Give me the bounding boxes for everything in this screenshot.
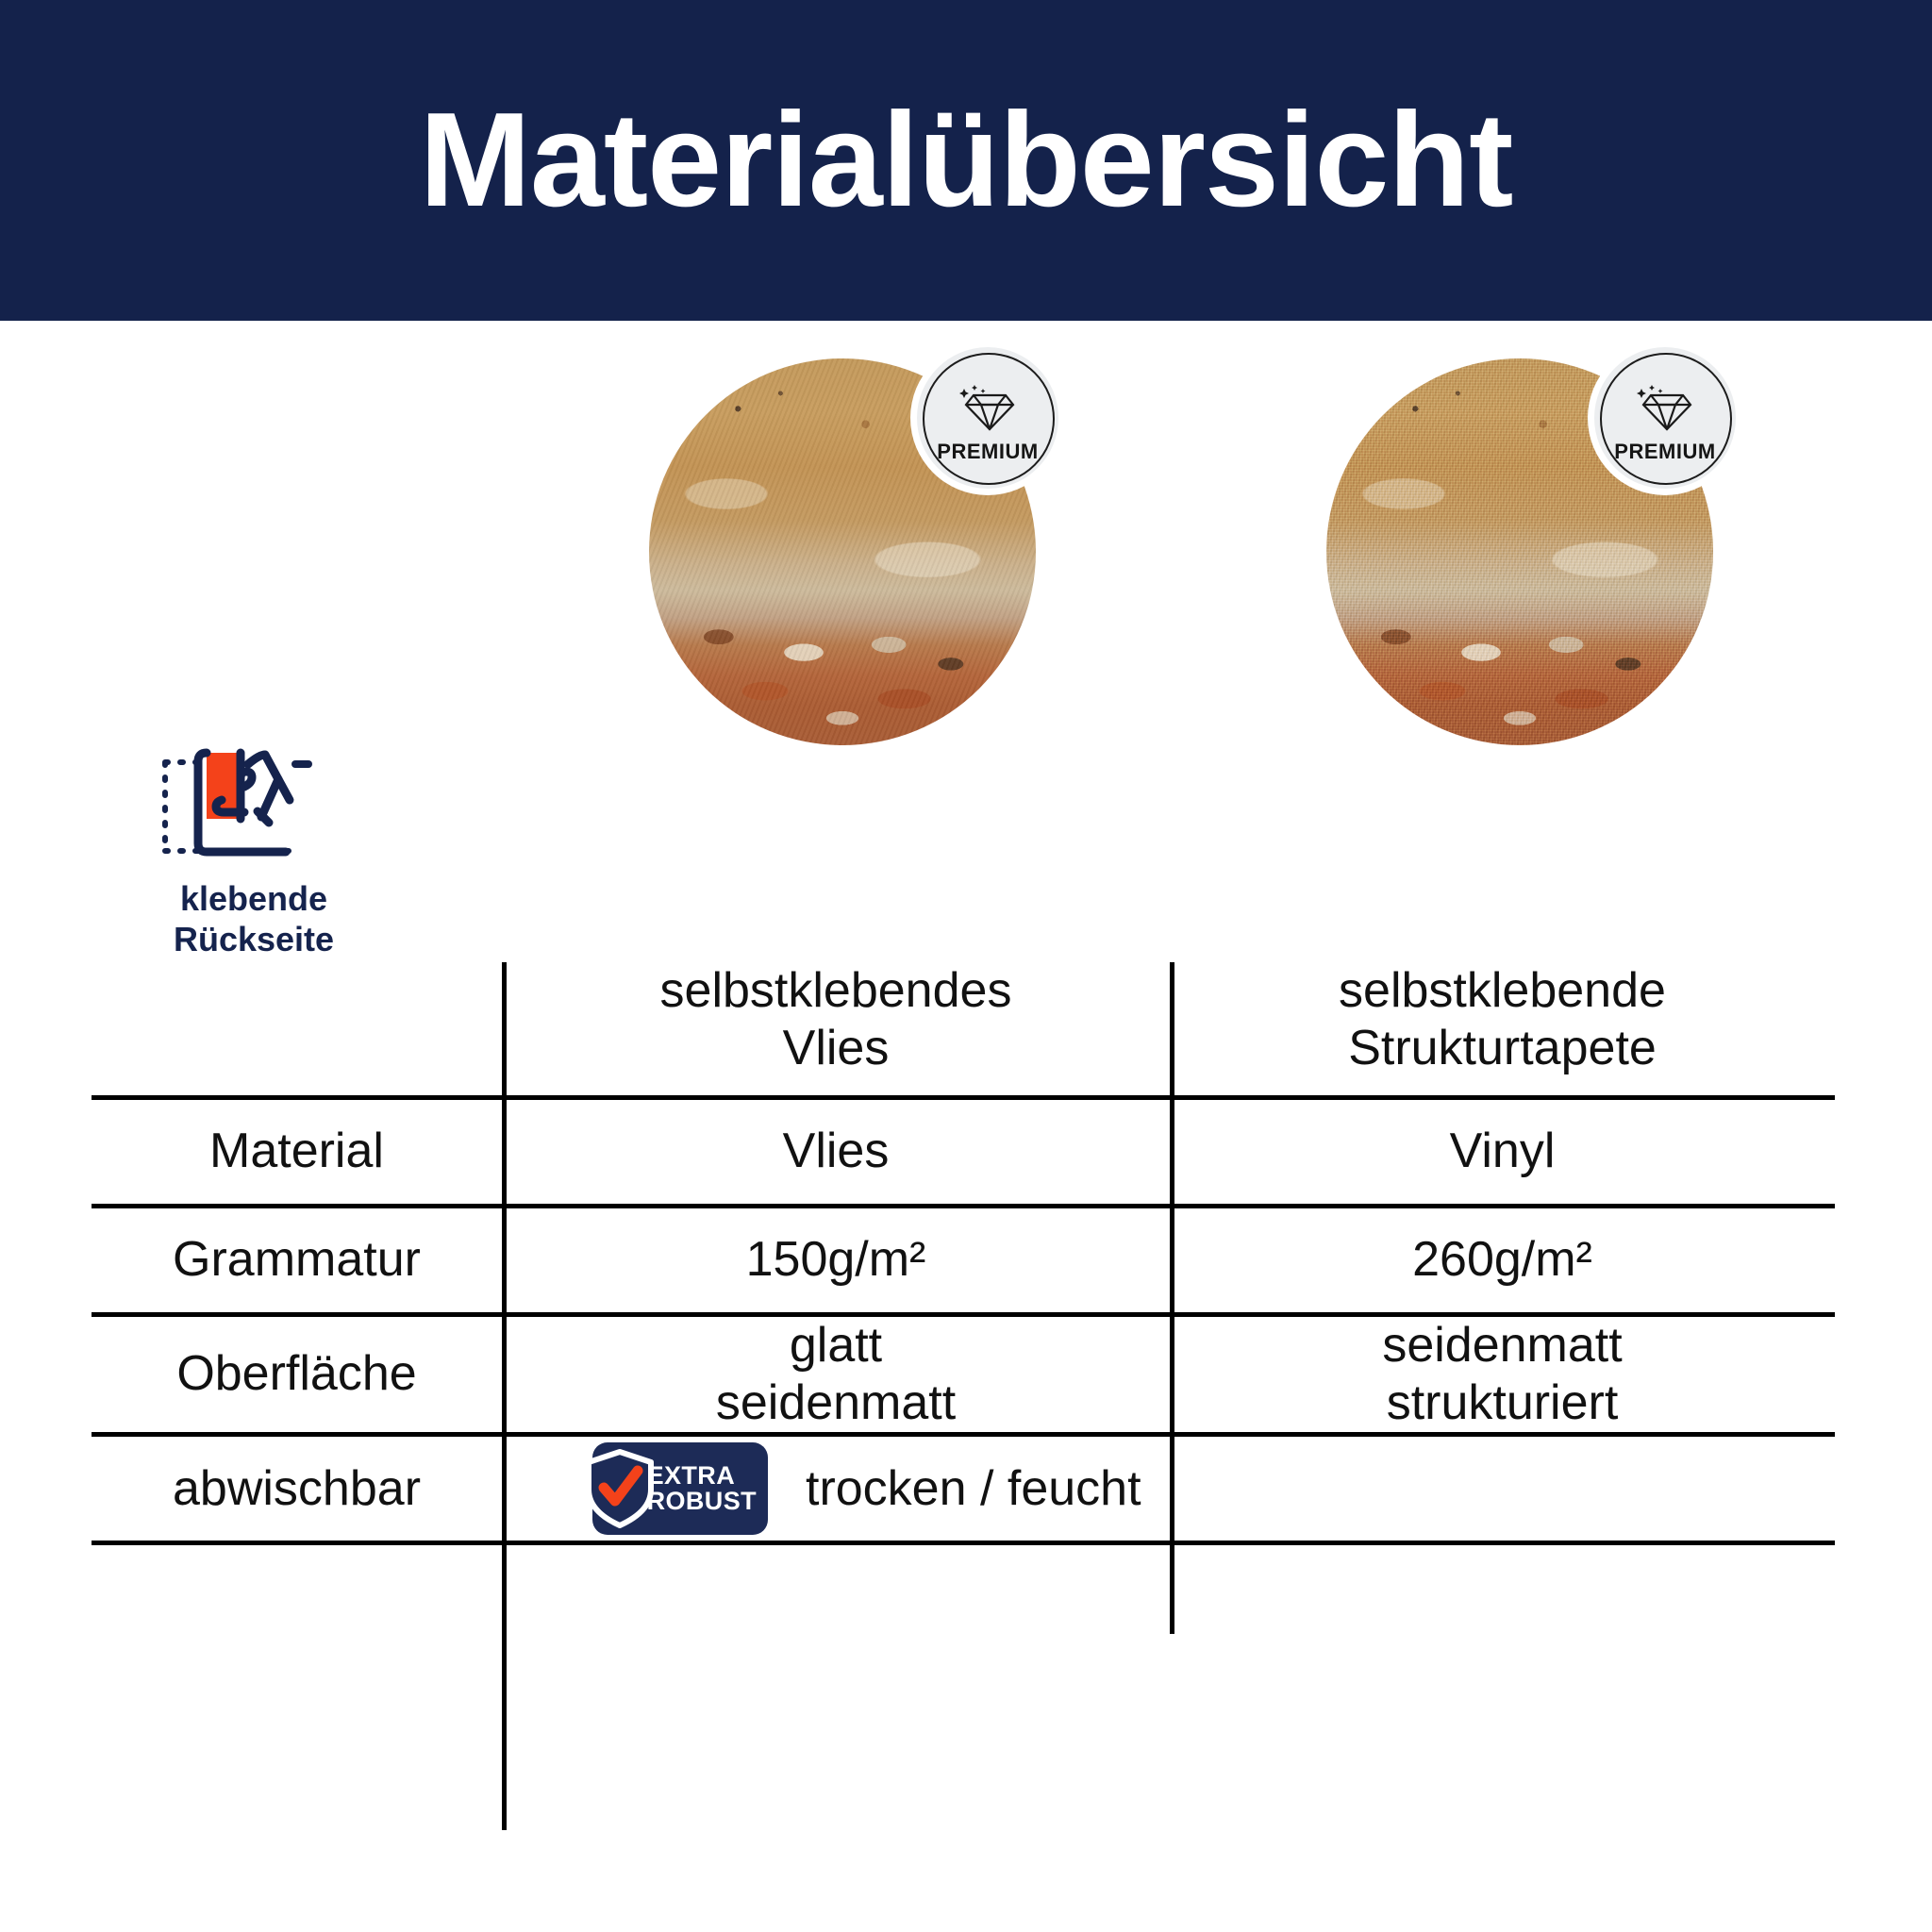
- adhesive-backing-label: klebende Rückseite: [98, 878, 409, 959]
- cell-material-vlies: Vlies: [502, 1097, 1170, 1206]
- cell-material-vinyl: Vinyl: [1170, 1097, 1835, 1206]
- table-row-grammatur: Grammatur 150g/m² 260g/m²: [92, 1206, 1835, 1314]
- cell-grammatur-2: 260g/m²: [1170, 1206, 1835, 1314]
- bottom-border-cell-2: [502, 1543, 1170, 1546]
- bottom-border-cell-3: [1170, 1543, 1835, 1546]
- header-banner: Materialübersicht: [0, 0, 1932, 321]
- badge-ring: [923, 353, 1055, 485]
- column-divider-1: [502, 962, 507, 1830]
- extra-robust-badge: EXTRA ROBUST: [592, 1442, 768, 1535]
- oberflaeche-1-line2: seidenmatt: [502, 1374, 1170, 1432]
- table-row-oberflaeche: Oberfläche glatt seidenmatt seidenmatt s…: [92, 1314, 1835, 1435]
- cell-oberflaeche-2: seidenmatt strukturiert: [1170, 1314, 1835, 1435]
- table-row-abwischbar: abwischbar EXTRA R: [92, 1435, 1835, 1543]
- oberflaeche-2-line1: seidenmatt: [1170, 1317, 1835, 1374]
- product-name-2-line1: selbstklebende: [1170, 962, 1835, 1020]
- extra-robust-label: EXTRA ROBUST: [647, 1463, 757, 1515]
- oberflaeche-2-line2: strukturiert: [1170, 1374, 1835, 1432]
- extra-robust-line2: ROBUST: [647, 1487, 757, 1515]
- abwischbar-value-text: trocken / feucht: [806, 1460, 1141, 1518]
- table-row-product-names: selbstklebendes Vlies selbstklebende Str…: [92, 962, 1835, 1097]
- product-name-1-line1: selbstklebendes: [502, 962, 1170, 1020]
- badge-ring: [1600, 353, 1732, 485]
- adhesive-label-line1: klebende: [98, 878, 409, 919]
- product-name-2-line2: Strukturtapete: [1170, 1020, 1835, 1077]
- row-label-material: Material: [92, 1097, 502, 1206]
- oberflaeche-1-line1: glatt: [502, 1317, 1170, 1374]
- cell-oberflaeche-1: glatt seidenmatt: [502, 1314, 1170, 1435]
- table-row-material: Material Vlies Vinyl: [92, 1097, 1835, 1206]
- cell-grammatur-1: 150g/m²: [502, 1206, 1170, 1314]
- cell-abwischbar-value: EXTRA ROBUST trocken / feucht: [502, 1435, 1835, 1543]
- cell-empty-corner: [92, 962, 502, 1097]
- row-label-abwischbar: abwischbar: [92, 1435, 502, 1543]
- adhesive-label-line2: Rückseite: [98, 919, 409, 959]
- adhesive-backing-block: klebende Rückseite: [98, 745, 409, 959]
- table-bottom-border: [92, 1543, 1835, 1546]
- shield-check-icon: [583, 1448, 657, 1542]
- column-divider-2: [1170, 962, 1174, 1634]
- page-title: Materialübersicht: [420, 93, 1513, 227]
- cell-product-name-2: selbstklebende Strukturtapete: [1170, 962, 1835, 1097]
- premium-badge-right: PREMIUM: [1594, 347, 1736, 489]
- material-spec-table: selbstklebendes Vlies selbstklebende Str…: [92, 962, 1835, 1545]
- bottom-border-cell-1: [92, 1543, 502, 1546]
- product-image-right: PREMIUM: [1326, 358, 1713, 745]
- cell-product-name-1: selbstklebendes Vlies: [502, 962, 1170, 1097]
- row-label-grammatur: Grammatur: [92, 1206, 502, 1314]
- premium-badge-left: PREMIUM: [917, 347, 1058, 489]
- extra-robust-line1: EXTRA: [647, 1461, 736, 1490]
- row-label-oberflaeche: Oberfläche: [92, 1314, 502, 1435]
- product-name-1-line2: Vlies: [502, 1020, 1170, 1077]
- product-image-left: PREMIUM: [649, 358, 1036, 745]
- adhesive-peel-icon: [154, 856, 354, 872]
